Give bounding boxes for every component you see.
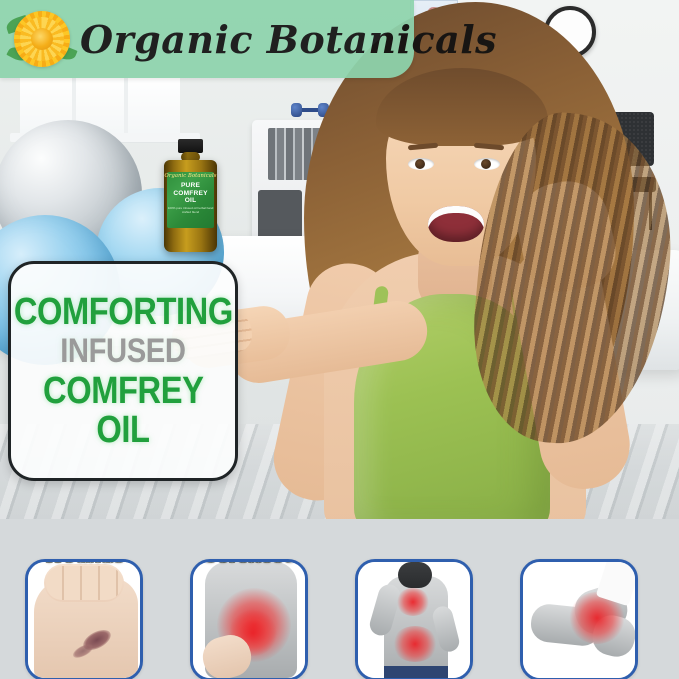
headline-line-1: COMFORTING: [14, 294, 233, 330]
benefit-card-minor-wounds: MinorWounds: [25, 559, 143, 679]
eye: [474, 158, 500, 170]
headline-line-4: OIL: [96, 412, 149, 448]
benefit-card-back-pain: Back Pain: [355, 559, 473, 679]
bottle-cap: [178, 139, 203, 153]
wrist-joint-pain-photo: [523, 562, 635, 678]
bottle-label: Organic Botanicals PURE COMFREY OIL 100%…: [167, 172, 214, 228]
wrist-wound-photo: [28, 562, 140, 678]
headline-line-2: INFUSED: [60, 335, 185, 368]
open-mouth: [428, 206, 484, 242]
advertisement-image: Organic Botanicals PURE COMFREY OIL 100%…: [0, 0, 679, 679]
headline-line-3: COMFREY: [43, 373, 203, 409]
headline-card: COMFORTING INFUSED COMFREY OIL: [8, 261, 238, 481]
benefit-card-fracture-soreness: FractureSoreness: [190, 559, 308, 679]
calendula-flower-icon: [6, 6, 78, 72]
benefits-strip: MinorWounds FractureSoreness: [0, 519, 679, 679]
brand-name: Organic Botanicals: [80, 17, 497, 62]
bottle-product-name: PURE COMFREY OIL: [173, 182, 207, 204]
product-bottle: Organic Botanicals PURE COMFREY OIL 100%…: [162, 139, 219, 252]
bottle-subtext: 100% pure infused oil herbal hand crafte…: [167, 207, 214, 214]
model-photo: [268, 0, 679, 530]
eye: [408, 158, 434, 170]
benefit-card-joint-pain: Joint Pain: [520, 559, 638, 679]
abdomen-soreness-photo: [193, 562, 305, 678]
brand-banner: Organic Botanicals: [0, 0, 414, 78]
bottle-brand-text: Organic Botanicals: [165, 174, 217, 179]
back-pain-photo: [358, 562, 470, 678]
